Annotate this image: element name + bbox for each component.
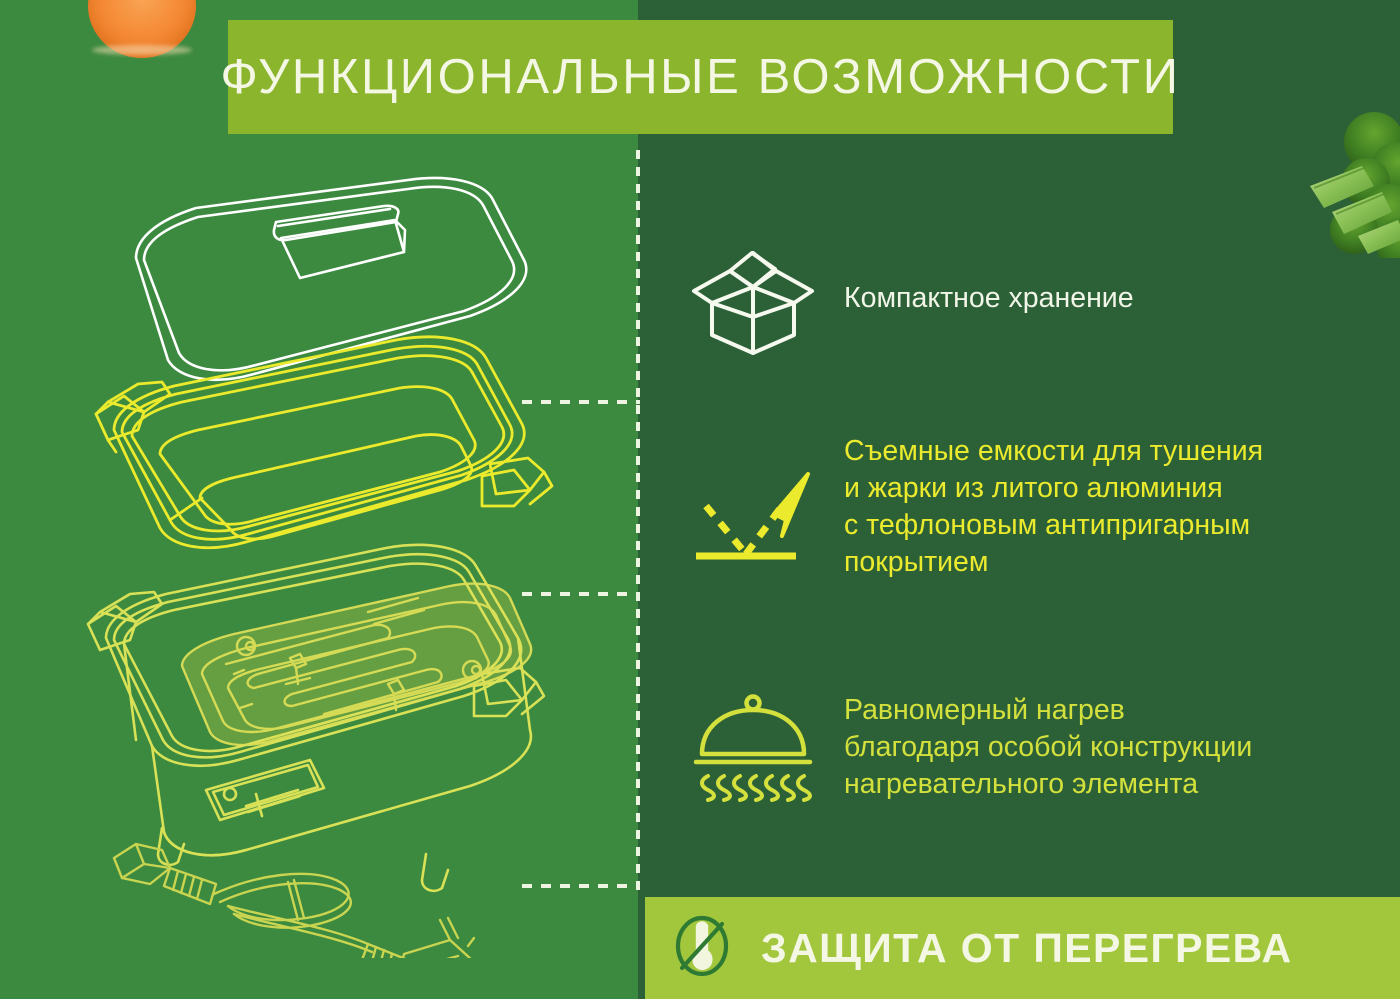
feature-even-heating: Равномерный нагрев благодаря особой конс… (690, 690, 1252, 803)
page-title: ФУНКЦИОНАЛЬНЫЕ ВОЗМОЖНОСТИ (220, 49, 1180, 105)
feature-compact-storage: Компактное хранение (690, 247, 1134, 357)
nonstick-bounce-arrow-icon (690, 447, 816, 595)
broccoli-floret-image (1270, 108, 1400, 258)
infographic-poster: ФУНКЦИОНАЛЬНЫЕ ВОЗМОЖНОСТИ (0, 0, 1400, 999)
no-overheat-thermometer-icon (673, 913, 731, 984)
product-exploded-diagram (78, 168, 598, 958)
removable-pan-part (96, 337, 552, 548)
carrot-slice-image (88, 0, 196, 58)
title-banner: ФУНКЦИОНАЛЬНЫЕ ВОЗМОЖНОСТИ (228, 20, 1173, 134)
cloche-heat-icon (690, 690, 816, 802)
feature-compact-storage-label: Компактное хранение (844, 280, 1134, 317)
lid-part (136, 178, 526, 380)
power-cord-part (114, 844, 474, 958)
overheat-protection-label: ЗАЩИТА ОТ ПЕРЕГРЕВА (761, 925, 1293, 972)
feature-even-heating-label: Равномерный нагрев благодаря особой конс… (844, 692, 1252, 803)
feature-removable-pans: Съемные емкости для тушения и жарки из л… (690, 437, 1263, 595)
panel-divider-dashed-line (636, 150, 640, 892)
open-box-icon (690, 247, 816, 357)
base-unit-part (88, 545, 544, 891)
feature-removable-pans-label: Съемные емкости для тушения и жарки из л… (844, 433, 1263, 581)
overheat-protection-banner: ЗАЩИТА ОТ ПЕРЕГРЕВА (645, 897, 1400, 999)
